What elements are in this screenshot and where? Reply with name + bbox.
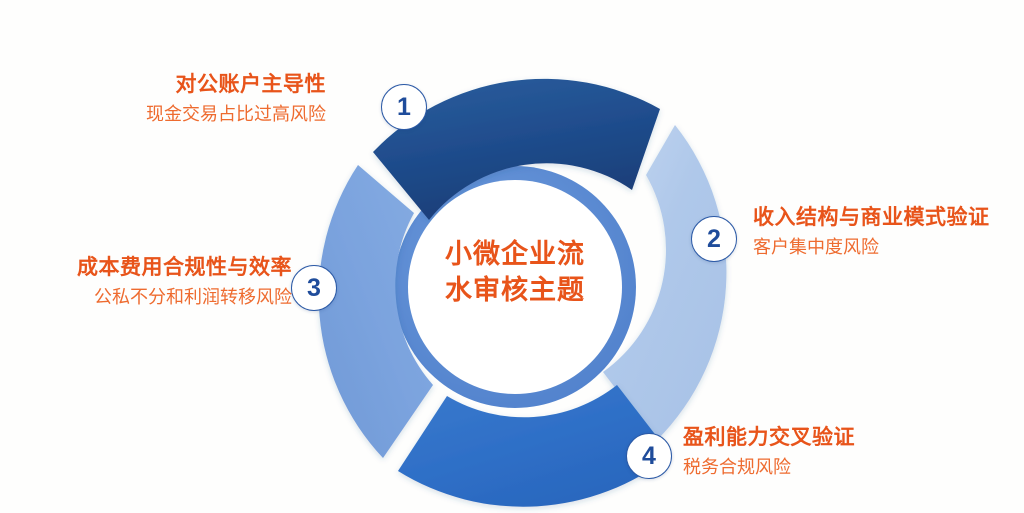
infographic-canvas: 小微企业流 水审核主题 1 2 3 4 对公账户主导性 现金交易占比过高风险 收…	[0, 0, 1024, 513]
center-title: 小微企业流 水审核主题	[411, 237, 619, 308]
segment-subtitle-3: 公私不分和利润转移风险	[30, 286, 292, 309]
segment-subtitle-4: 税务合规风险	[683, 456, 855, 479]
center-title-line2: 水审核主题	[411, 273, 619, 309]
segment-label-2: 收入结构与商业模式验证 客户集中度风险	[753, 205, 990, 260]
segment-subtitle-1: 现金交易占比过高风险	[146, 103, 326, 126]
segment-label-3: 成本费用合规性与效率 公私不分和利润转移风险	[30, 255, 292, 310]
segment-badge-4[interactable]: 4	[626, 433, 672, 479]
center-title-line1: 小微企业流	[411, 237, 619, 273]
segment-title-1: 对公账户主导性	[146, 72, 326, 98]
segment-badge-2[interactable]: 2	[691, 216, 737, 262]
segment-badge-1[interactable]: 1	[381, 84, 427, 130]
segment-label-4: 盈利能力交叉验证 税务合规风险	[683, 425, 855, 480]
segment-subtitle-2: 客户集中度风险	[753, 236, 990, 259]
segment-badge-3[interactable]: 3	[291, 265, 337, 311]
segment-title-2: 收入结构与商业模式验证	[753, 205, 990, 231]
segment-label-1: 对公账户主导性 现金交易占比过高风险	[146, 72, 326, 127]
segment-title-4: 盈利能力交叉验证	[683, 425, 855, 451]
segment-title-3: 成本费用合规性与效率	[30, 255, 292, 281]
